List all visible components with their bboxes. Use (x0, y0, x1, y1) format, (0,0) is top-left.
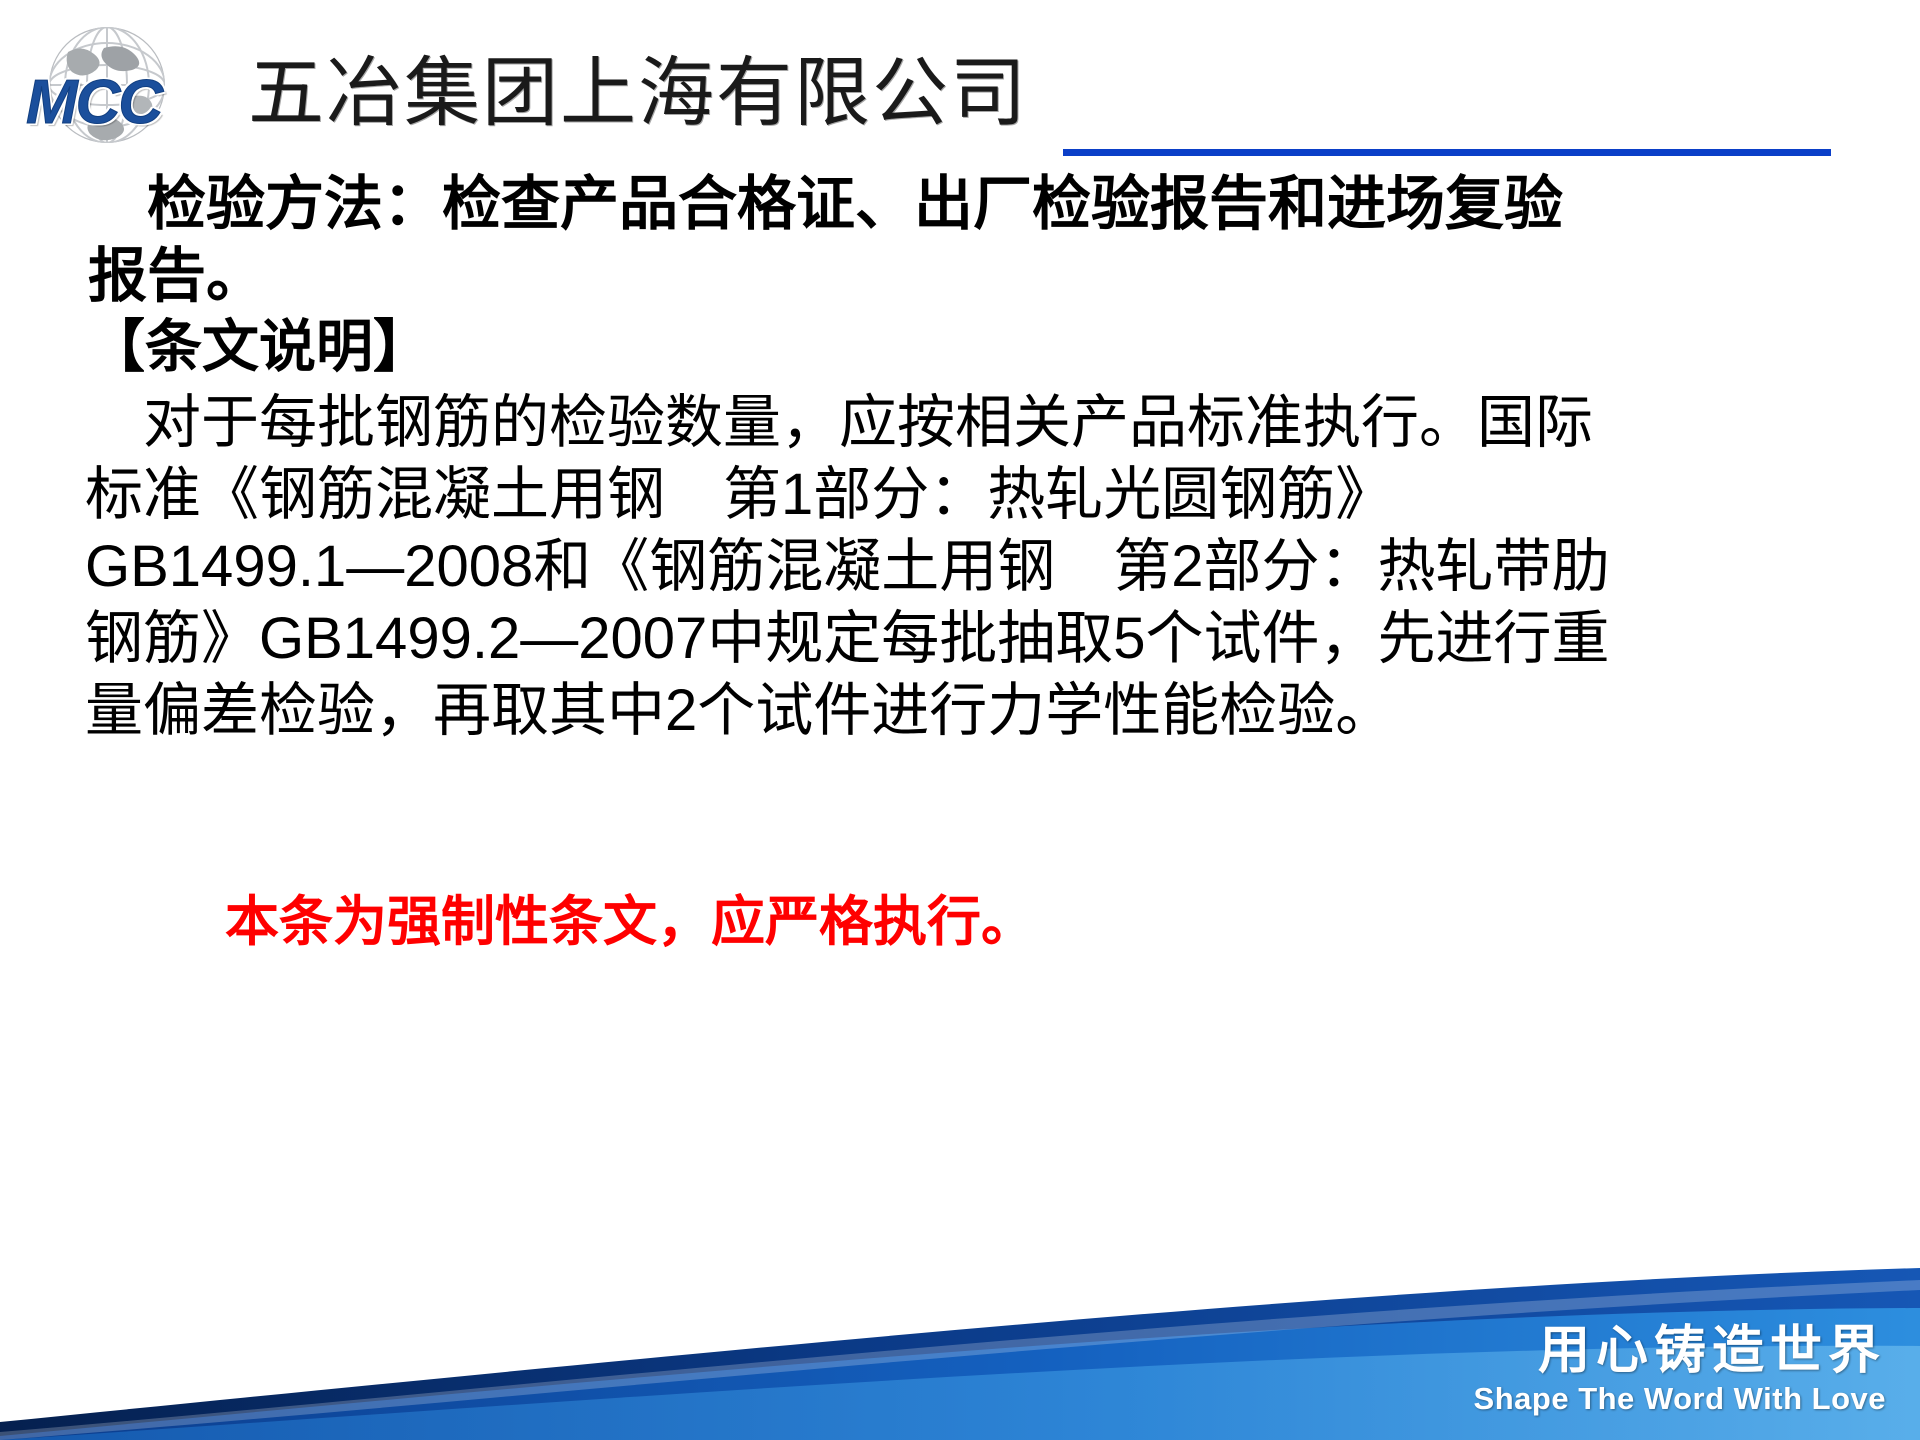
company-name: 五冶集团上海有限公司 (248, 52, 1028, 136)
slide-body: 检验方法：检查产品合格证、出厂检验报告和进场复验报告。 【条文说明】 对于每批钢… (0, 165, 1920, 1250)
slogan-english: Shape The Word With Love (1474, 1380, 1886, 1418)
note-title: 【条文说明】 (88, 313, 430, 381)
slide-footer: 用心铸造世界 Shape The Word With Love (0, 1250, 1920, 1440)
mcc-wordmark: MCC (26, 74, 241, 132)
inspection-method-text: 检验方法：检查产品合格证、出厂检验报告和进场复验报告。 (88, 168, 1588, 312)
explanation-text: 对于每批钢筋的检验数量，应按相关产品标准执行。国际标准《钢筋混凝土用钢 第1部分… (85, 387, 1615, 747)
mcc-logo: MCC (18, 22, 248, 147)
slide: MCC 五冶集团上海有限公司 检验方法：检查产品合格证、出厂检验报告和进场复验报… (0, 0, 1920, 1440)
slogan-chinese: 用心铸造世界 (1474, 1322, 1886, 1380)
footer-slogan: 用心铸造世界 Shape The Word With Love (1474, 1322, 1886, 1418)
mandatory-note: 本条为强制性条文，应严格执行。 (225, 889, 1035, 955)
slide-header: MCC 五冶集团上海有限公司 (0, 0, 1920, 165)
header-divider (1063, 149, 1831, 156)
